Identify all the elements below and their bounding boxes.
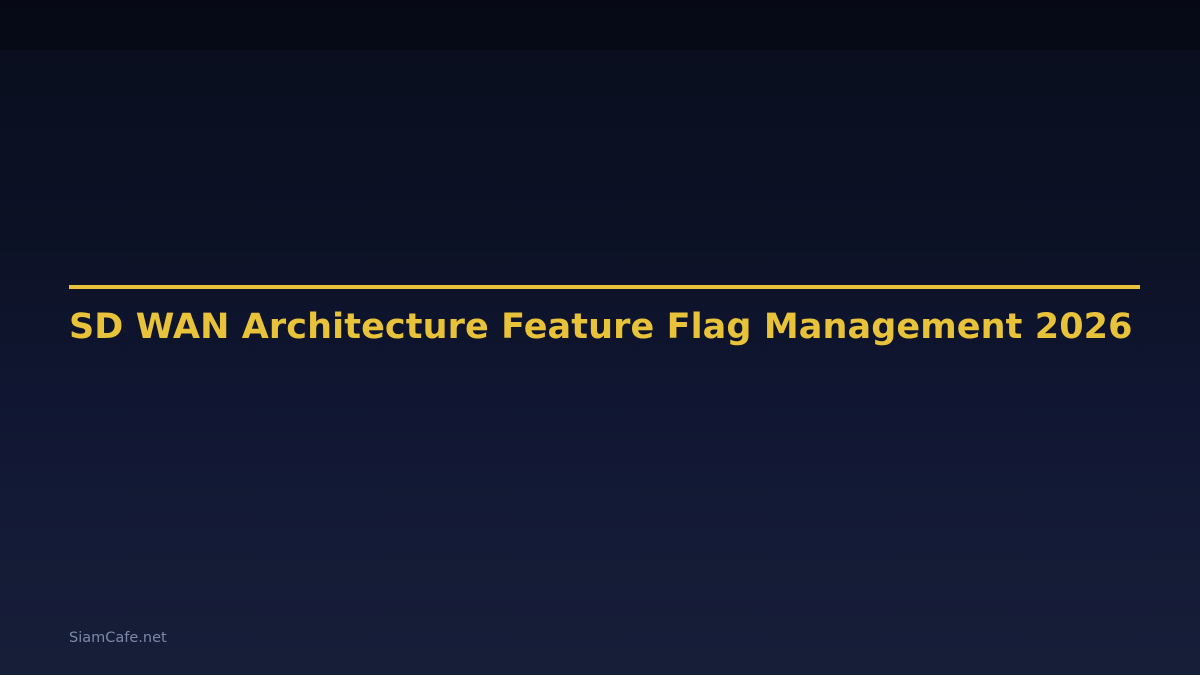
footer-brand-label: SiamCafe.net <box>69 631 167 646</box>
title-block: SD WAN Architecture Feature Flag Managem… <box>69 285 1140 345</box>
presentation-slide: SD WAN Architecture Feature Flag Managem… <box>0 0 1200 675</box>
page-title: SD WAN Architecture Feature Flag Managem… <box>69 289 1140 345</box>
top-shade-band <box>0 0 1200 50</box>
